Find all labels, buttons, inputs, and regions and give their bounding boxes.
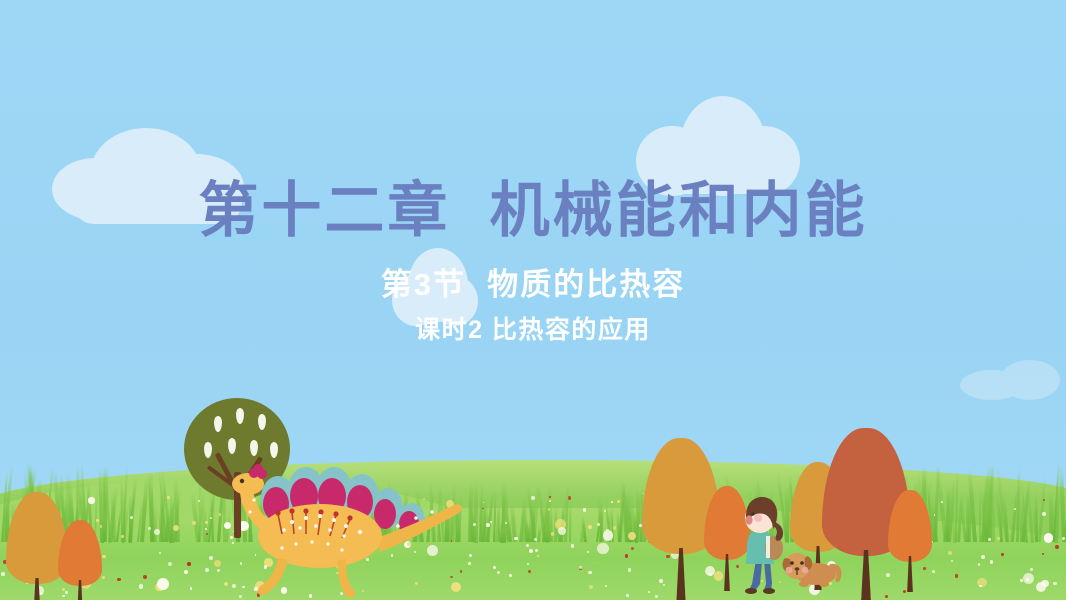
girl-mouth bbox=[745, 515, 752, 524]
girl-leg-front bbox=[764, 560, 772, 591]
flower-dot bbox=[628, 532, 636, 540]
flower-dot bbox=[187, 562, 191, 566]
flower-dot bbox=[597, 543, 608, 554]
page-title: 第十二章 机械能和内能 bbox=[0, 178, 1066, 244]
flower-dot bbox=[528, 570, 531, 573]
grass-blade bbox=[120, 476, 123, 542]
flower-dot bbox=[497, 571, 500, 574]
flower-dot bbox=[88, 497, 94, 503]
flower-dot bbox=[505, 522, 507, 524]
tree-trunk bbox=[859, 550, 874, 600]
flower-dot bbox=[514, 537, 518, 541]
flower-dot bbox=[209, 556, 213, 560]
flower-dot bbox=[1036, 582, 1046, 592]
flower-dot bbox=[486, 523, 490, 527]
tree-far-left-small bbox=[58, 520, 102, 600]
flower-dot bbox=[978, 563, 981, 566]
flower-dot bbox=[583, 508, 587, 512]
dog-svg bbox=[782, 546, 846, 588]
flower-dot bbox=[102, 555, 106, 559]
dinosaur bbox=[226, 464, 476, 600]
flower-dot bbox=[526, 544, 529, 547]
flower-dot bbox=[537, 555, 539, 557]
dino-leg-back bbox=[258, 558, 288, 595]
grass-blade bbox=[1038, 476, 1046, 542]
flower-dot bbox=[102, 576, 105, 579]
flower-dot bbox=[1030, 568, 1033, 571]
flower-dot bbox=[626, 594, 629, 597]
dinosaur-svg bbox=[226, 464, 476, 600]
flower-dot bbox=[955, 574, 959, 578]
flower-dot bbox=[613, 526, 617, 530]
flower-dot bbox=[589, 585, 593, 589]
flower-dot bbox=[1014, 508, 1016, 510]
flower-dot bbox=[1042, 553, 1044, 555]
girl-leg-back bbox=[749, 560, 762, 591]
flower-dot bbox=[493, 566, 496, 569]
flower-dot bbox=[551, 532, 554, 535]
grass-blade bbox=[148, 472, 153, 542]
flower-dot bbox=[628, 568, 631, 571]
flower-dot bbox=[535, 549, 538, 552]
tree-trunk bbox=[675, 548, 688, 600]
flower-dot bbox=[1055, 545, 1059, 549]
flower-dot bbox=[483, 502, 485, 504]
flower-dot bbox=[214, 560, 221, 567]
section-title: 第3节 物质的比热容 bbox=[0, 266, 1066, 305]
flower-dot bbox=[1, 572, 5, 576]
flower-dot bbox=[548, 508, 551, 511]
flower-dot bbox=[597, 523, 600, 526]
title-block: 第十二章 机械能和内能 第3节 物质的比热容 课时2 比热容的应用 bbox=[0, 178, 1066, 346]
dog bbox=[782, 546, 846, 588]
flower-dot bbox=[588, 525, 592, 529]
grass-blade bbox=[548, 500, 553, 542]
tree-canopy bbox=[58, 520, 102, 586]
flower-dot bbox=[529, 549, 533, 553]
tree-right-rust-small bbox=[888, 490, 932, 592]
grass-blade bbox=[1059, 467, 1066, 542]
flower-dot bbox=[139, 584, 143, 588]
flower-dot bbox=[168, 562, 172, 566]
slide-cover: 第十二章 机械能和内能 第3节 物质的比热容 课时2 比热容的应用 bbox=[0, 0, 1066, 600]
flower-dot bbox=[988, 538, 991, 541]
flower-dot bbox=[190, 587, 193, 590]
lesson-title: 课时2 比热容的应用 bbox=[0, 315, 1066, 346]
tree-canopy bbox=[888, 490, 932, 562]
flower-dot bbox=[588, 571, 592, 575]
flower-dot bbox=[579, 566, 582, 569]
flower-dot bbox=[932, 570, 935, 573]
flower-dot bbox=[531, 496, 535, 500]
grass-blade bbox=[569, 498, 572, 542]
flower-dot bbox=[1042, 512, 1046, 516]
flower-dot bbox=[205, 568, 209, 572]
flower-dot bbox=[617, 500, 620, 503]
flower-dot bbox=[979, 585, 982, 588]
grass-blade bbox=[991, 491, 995, 542]
